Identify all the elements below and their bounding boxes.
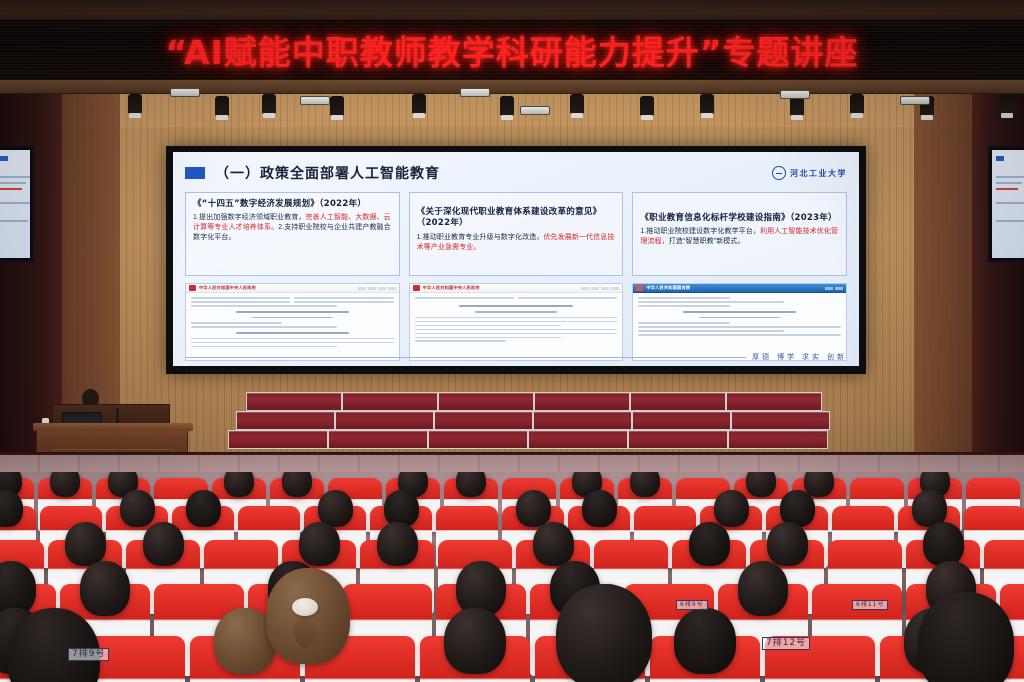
stage-light-icon xyxy=(1000,94,1014,114)
hair-scrunchie xyxy=(292,598,318,616)
seat-number-label: 6排11号 xyxy=(852,600,888,610)
left-side-monitor xyxy=(0,146,34,262)
riser-block xyxy=(342,392,438,411)
attendee-head xyxy=(516,490,551,527)
led-banner: “AI赋能中职教师教学科研能力提升”专题讲座 xyxy=(0,18,1024,80)
seat-number-label: 6排9号 xyxy=(676,600,708,610)
attendee-head xyxy=(746,472,776,497)
riser-block xyxy=(328,430,428,449)
national-emblem-icon xyxy=(413,285,420,291)
stage-light-icon xyxy=(128,94,142,114)
chair-backrest xyxy=(984,540,1024,568)
riser-block xyxy=(528,430,628,449)
riser-block xyxy=(438,392,534,411)
attendee-head xyxy=(299,522,340,566)
policy-box-title: 《“十四五”数字经济发展规划》（2022年） xyxy=(193,199,392,210)
presentation-slide: （一）政策全面部署人工智能教育 河北工业大学 《“十四五”数字经济发展规划》（2… xyxy=(173,152,859,366)
panel-light-icon xyxy=(460,88,490,97)
attendee-head xyxy=(582,490,617,527)
chair-backrest xyxy=(828,540,902,568)
attendee-head xyxy=(918,592,1014,682)
chair-backrest xyxy=(204,540,278,568)
riser-block xyxy=(228,430,328,449)
policy-box-title: 《关于深化现代职业教育体系建设改革的意见》（2022年） xyxy=(417,207,616,230)
chair-backrest xyxy=(342,584,432,619)
policy-boxes-row: 《“十四五”数字经济发展规划》（2022年） 1.提出加强数字经济领域职业教育，… xyxy=(185,192,847,276)
chair-backrest xyxy=(594,540,668,568)
policy-box-title: 《职业教育信息化标杆学校建设指南》（2023年） xyxy=(640,213,839,224)
policy-line: 打造“智慧职教”新模式。 xyxy=(669,238,745,245)
document-screenshot-body xyxy=(633,293,846,342)
attendee-head xyxy=(224,472,254,497)
right-side-monitor-screen xyxy=(992,150,1024,258)
riser-block xyxy=(246,392,342,411)
attendee-head xyxy=(377,522,418,566)
policy-box: 《职业教育信息化标杆学校建设指南》（2023年） 1.推动职业院校建设数字化教学… xyxy=(632,192,847,276)
policy-box: 《关于深化现代职业教育体系建设改革的意见》（2022年） 1.推动职业教育专业升… xyxy=(409,192,624,276)
document-screenshot: 中华人民共和国中央人民政府 xyxy=(409,283,624,361)
panel-light-icon xyxy=(170,88,200,97)
stage-light-icon xyxy=(262,94,276,114)
policy-line: 1.提出加强数字经济领域职业教育， xyxy=(193,214,306,221)
ponytail xyxy=(294,614,316,648)
attendee-head xyxy=(282,472,312,497)
panel-light-icon xyxy=(520,106,550,115)
stage-light-icon xyxy=(850,94,864,114)
university-motto: 厚德 博学 求实 创新 xyxy=(752,352,847,362)
document-site-name: 中华人民共和国中央人民政府 xyxy=(199,285,256,291)
attendee-head xyxy=(767,522,808,566)
document-screenshots-row: 中华人民共和国中央人民政府 xyxy=(185,283,847,361)
document-screenshot-body xyxy=(410,293,623,348)
document-nav-links xyxy=(358,287,396,290)
left-side-monitor-screen xyxy=(0,150,30,258)
attendee-head xyxy=(630,472,660,497)
chair-backrest xyxy=(832,506,894,530)
stage-light-icon xyxy=(412,94,426,114)
attendee-head xyxy=(533,522,574,566)
riser-block xyxy=(428,430,528,449)
attendee-head xyxy=(456,472,486,497)
panel-light-icon xyxy=(780,90,810,99)
riser-block xyxy=(533,411,632,430)
attendee-head xyxy=(689,522,730,566)
riser-block xyxy=(434,411,533,430)
attendee-head xyxy=(143,522,184,566)
document-screenshot-header: 中华人民共和国中央人民政府 xyxy=(186,284,399,293)
attendee-head xyxy=(714,490,749,527)
university-name: 河北工业大学 xyxy=(790,168,847,179)
wall-right-dark-panel xyxy=(972,80,1024,470)
attendee-head xyxy=(120,490,155,527)
riser-block xyxy=(731,411,830,430)
attendee-head xyxy=(738,561,788,616)
chair-backrest xyxy=(634,506,696,530)
auditorium-lecture-photo: “AI赋能中职教师教学科研能力提升”专题讲座 xyxy=(0,0,1024,682)
riser-block xyxy=(236,411,335,430)
document-site-name: 中华人民共和国中央人民政府 xyxy=(423,285,480,291)
panel-light-icon xyxy=(300,96,330,105)
document-screenshot-header: 中华人民共和国国务院 xyxy=(633,284,846,293)
main-projection-screen: （一）政策全面部署人工智能教育 河北工业大学 《“十四五”数字经济发展规划》（2… xyxy=(166,146,866,374)
attendee-head xyxy=(556,584,652,682)
national-emblem-icon xyxy=(636,285,643,291)
stage-light-icon xyxy=(215,96,229,116)
document-nav-links xyxy=(825,287,843,290)
chair-backrest xyxy=(850,478,904,499)
document-screenshot: 中华人民共和国国务院 xyxy=(632,283,847,361)
stage-light-icon xyxy=(500,96,514,116)
panel-light-icon xyxy=(900,96,930,105)
footer-rule xyxy=(185,357,746,358)
riser-row xyxy=(236,411,830,430)
stage-light-icon xyxy=(640,96,654,116)
university-logo: 河北工业大学 xyxy=(772,166,847,180)
attendee-head xyxy=(50,472,80,497)
riser-block xyxy=(628,430,728,449)
chair-backrest xyxy=(436,506,498,530)
riser-row xyxy=(246,392,822,411)
chair-backrest xyxy=(966,478,1020,499)
riser-block xyxy=(630,392,726,411)
slide-title: （一）政策全面部署人工智能教育 xyxy=(215,163,440,183)
wall-right-wood-panel xyxy=(914,80,972,470)
document-screenshot-body xyxy=(186,293,399,354)
chair-backrest xyxy=(238,506,300,530)
policy-box-body: 1.推动职业教育专业升级与数字化改造，优先发展新一代信息技术等产业急需专业。 xyxy=(417,233,616,252)
slide-bullet-marker xyxy=(185,167,205,179)
stage-light-icon xyxy=(700,94,714,114)
seat-number-label: 7排9号 xyxy=(68,648,109,661)
policy-line: 1.推动职业教育专业升级与数字化改造， xyxy=(417,234,544,241)
stage-light-icon xyxy=(570,94,584,114)
attendee-head xyxy=(674,608,736,674)
riser-block xyxy=(728,430,828,449)
riser-block xyxy=(726,392,822,411)
attendee-head xyxy=(444,608,506,674)
university-emblem-icon xyxy=(772,166,786,180)
document-screenshot: 中华人民共和国中央人民政府 xyxy=(185,283,400,361)
chair-backrest xyxy=(964,506,1024,530)
slide-footer: 厚德 博学 求实 创新 xyxy=(185,352,847,362)
attendee-head xyxy=(923,522,964,566)
national-emblem-icon xyxy=(189,285,196,291)
attendee-head xyxy=(186,490,221,527)
policy-box: 《“十四五”数字经济发展规划》（2022年） 1.提出加强数字经济领域职业教育，… xyxy=(185,192,400,276)
document-screenshot-header: 中华人民共和国中央人民政府 xyxy=(410,284,623,293)
right-side-monitor xyxy=(988,146,1024,262)
led-banner-text: “AI赋能中职教师教学科研能力提升”专题讲座 xyxy=(166,26,859,74)
audience-seating xyxy=(0,472,1024,682)
riser-block xyxy=(534,392,630,411)
choral-risers xyxy=(228,392,828,454)
lighting-truss xyxy=(0,80,1024,94)
riser-row xyxy=(228,430,828,449)
document-site-name: 中华人民共和国国务院 xyxy=(646,285,690,291)
slide-header: （一）政策全面部署人工智能教育 河北工业大学 xyxy=(185,160,847,186)
policy-box-body: 1.推动职业院校建设数字化教学平台，利用人工智能技术优化管理流程，打造“智慧职教… xyxy=(640,227,839,246)
seat-number-label: 7排12号 xyxy=(762,637,810,650)
stage-light-icon xyxy=(790,96,804,116)
policy-box-body: 1.提出加强数字经济领域职业教育，完善人工智能、大数据、云计算等专业人才培养体系… xyxy=(193,213,392,242)
attendee-head xyxy=(65,522,106,566)
riser-block xyxy=(632,411,731,430)
policy-line: 1.推动职业院校建设数字化教学平台， xyxy=(640,228,760,235)
attendee-head xyxy=(80,561,130,616)
attendee-head xyxy=(0,490,23,527)
document-nav-links xyxy=(581,287,619,290)
stage-light-icon xyxy=(330,96,344,116)
riser-block xyxy=(335,411,434,430)
